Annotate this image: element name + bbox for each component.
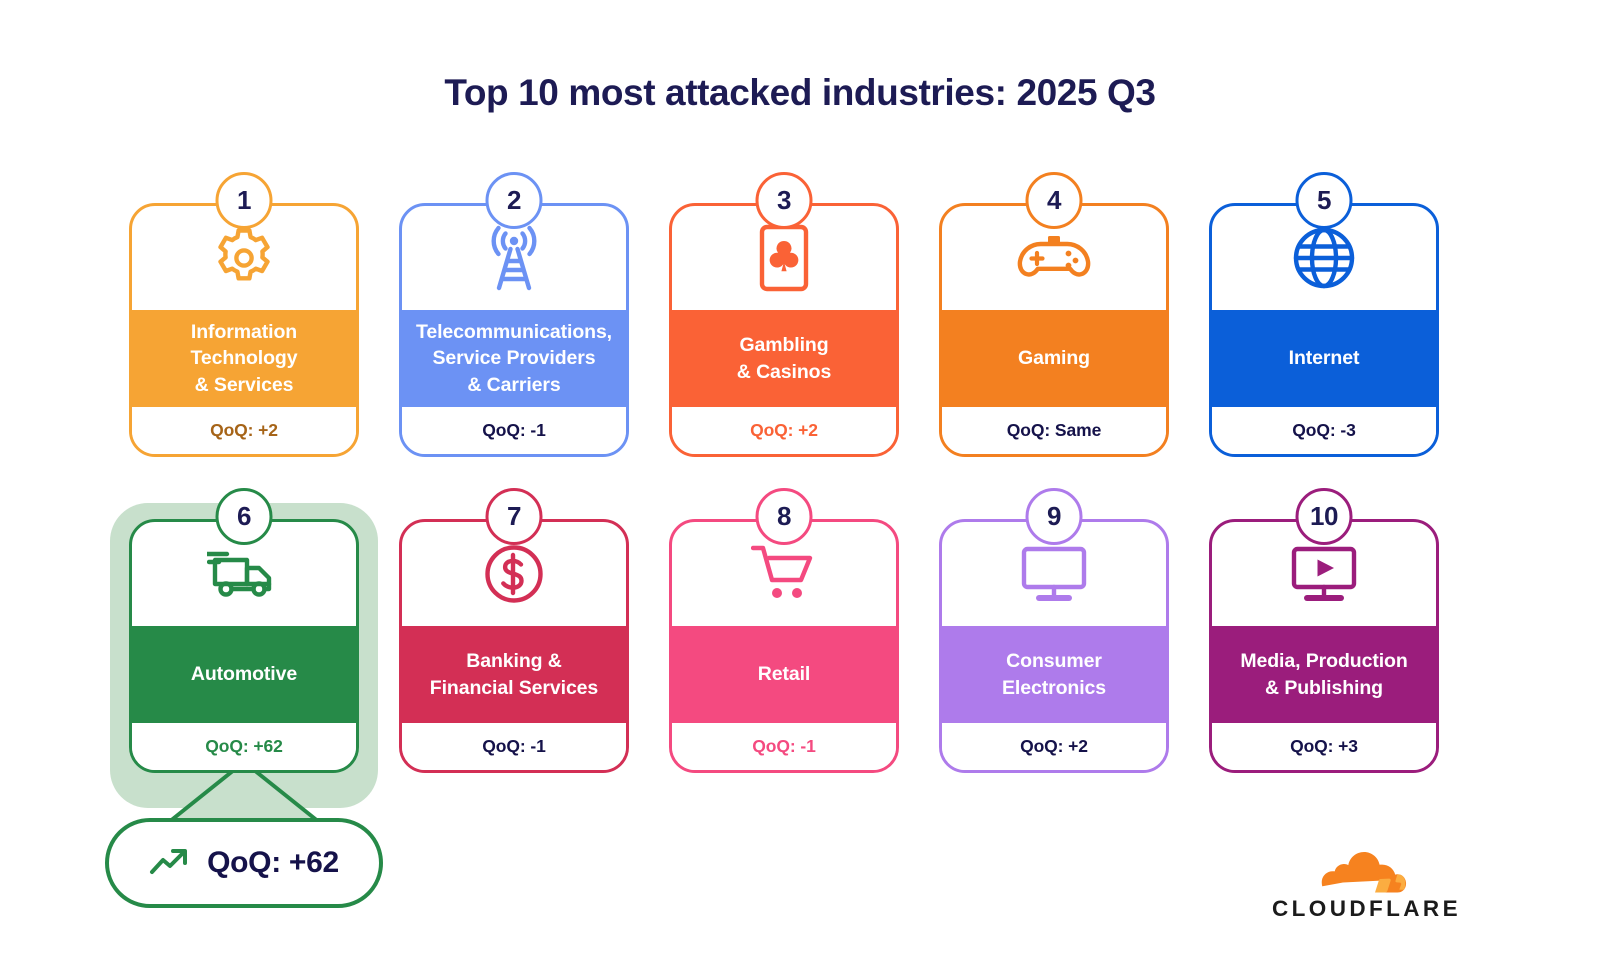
rank-badge-8: 8 [756,488,813,545]
qoq-footer: QoQ: +2 [942,723,1166,770]
qoq-footer: QoQ: -3 [1212,407,1436,454]
rank-number: 1 [237,185,251,216]
industry-name-band: InformationTechnology& Services [132,310,356,407]
industry-card-8[interactable]: RetailQoQ: -1 [669,519,899,773]
industry-name-band: Media, Production& Publishing [1212,626,1436,723]
industry-name-band: Retail [672,626,896,723]
rank-badge-3: 3 [756,172,813,229]
qoq-footer: QoQ: Same [942,407,1166,454]
qoq-value: QoQ: Same [1007,420,1101,441]
card-slot-1: InformationTechnology& ServicesQoQ: +21 [129,203,359,457]
industry-name-band: Banking &Financial Services [402,626,626,723]
qoq-footer: QoQ: +3 [1212,723,1436,770]
rank-badge-10: 10 [1296,488,1353,545]
card-slot-3: Gambling& CasinosQoQ: +23 [669,203,899,457]
industry-card-10[interactable]: Media, Production& PublishingQoQ: +3 [1209,519,1439,773]
qoq-footer: QoQ: -1 [402,723,626,770]
card-slot-4: GamingQoQ: Same4 [939,203,1169,457]
industry-name-label: Automotive [191,661,297,687]
industry-card-5[interactable]: InternetQoQ: -3 [1209,203,1439,457]
industry-card-9[interactable]: ConsumerElectronicsQoQ: +2 [939,519,1169,773]
industry-name-band: Gambling& Casinos [672,310,896,407]
trending-up-icon [149,846,191,881]
rank-number: 7 [507,501,521,532]
page-title: Top 10 most attacked industries: 2025 Q3 [0,72,1600,114]
industry-name-label: ConsumerElectronics [1002,648,1106,701]
card-row-2: AutomotiveQoQ: +626Banking &Financial Se… [129,519,1473,773]
qoq-footer: QoQ: -1 [402,407,626,454]
qoq-value: QoQ: +62 [205,736,283,757]
rank-badge-4: 4 [1026,172,1083,229]
rank-number: 10 [1310,501,1338,532]
rank-number: 3 [777,185,791,216]
industry-card-grid: InformationTechnology& ServicesQoQ: +21T… [129,203,1473,773]
qoq-value: QoQ: -1 [482,736,545,757]
card-slot-8: RetailQoQ: -18 [669,519,899,773]
cloudflare-logo: CLOUDFLARE [1272,852,1448,921]
rank-badge-1: 1 [216,172,273,229]
qoq-footer: QoQ: -1 [672,723,896,770]
cloudflare-cloud-icon [1272,852,1448,894]
industry-name-label: Media, Production& Publishing [1240,648,1407,701]
qoq-value: QoQ: +2 [1020,736,1088,757]
industry-name-band: Gaming [942,310,1166,407]
industry-name-band: Telecommunications,Service Providers& Ca… [402,310,626,407]
industry-card-4[interactable]: GamingQoQ: Same [939,203,1169,457]
qoq-footer: QoQ: +2 [132,407,356,454]
card-slot-9: ConsumerElectronicsQoQ: +29 [939,519,1169,773]
qoq-footer: QoQ: +62 [132,723,356,770]
rank-number: 6 [237,501,251,532]
callout-label: QoQ: +62 [207,846,339,880]
qoq-value: QoQ: -3 [1292,420,1355,441]
industry-name-label: Retail [758,661,811,687]
card-slot-10: Media, Production& PublishingQoQ: +310 [1209,519,1439,773]
industry-card-1[interactable]: InformationTechnology& ServicesQoQ: +2 [129,203,359,457]
industry-name-label: Gaming [1018,345,1090,371]
industry-card-7[interactable]: Banking &Financial ServicesQoQ: -1 [399,519,629,773]
rank-badge-2: 2 [486,172,543,229]
industry-card-2[interactable]: Telecommunications,Service Providers& Ca… [399,203,629,457]
industry-name-band: Automotive [132,626,356,723]
rank-number: 8 [777,501,791,532]
qoq-value: QoQ: -1 [482,420,545,441]
qoq-footer: QoQ: +2 [672,407,896,454]
card-slot-6: AutomotiveQoQ: +626 [129,519,359,773]
rank-badge-9: 9 [1026,488,1083,545]
industry-card-6[interactable]: AutomotiveQoQ: +62 [129,519,359,773]
qoq-value: QoQ: -1 [752,736,815,757]
rank-number: 2 [507,185,521,216]
rank-badge-7: 7 [486,488,543,545]
industry-name-band: ConsumerElectronics [942,626,1166,723]
qoq-value: QoQ: +2 [750,420,818,441]
card-slot-5: InternetQoQ: -35 [1209,203,1439,457]
industry-name-label: InformationTechnology& Services [191,319,298,398]
qoq-value: QoQ: +3 [1290,736,1358,757]
card-row-1: InformationTechnology& ServicesQoQ: +21T… [129,203,1473,457]
card-slot-7: Banking &Financial ServicesQoQ: -17 [399,519,629,773]
rank-number: 4 [1047,185,1061,216]
rank-badge-5: 5 [1296,172,1353,229]
rank-number: 5 [1317,185,1331,216]
industry-name-band: Internet [1212,310,1436,407]
card-slot-2: Telecommunications,Service Providers& Ca… [399,203,629,457]
rank-number: 9 [1047,501,1061,532]
industry-name-label: Banking &Financial Services [430,648,598,701]
rank-badge-6: 6 [216,488,273,545]
industry-name-label: Gambling& Casinos [737,332,831,385]
qoq-callout[interactable]: QoQ: +62 [105,818,383,908]
cloudflare-wordmark: CLOUDFLARE [1272,898,1448,921]
qoq-value: QoQ: +2 [210,420,278,441]
industry-name-label: Telecommunications,Service Providers& Ca… [416,319,612,398]
industry-card-3[interactable]: Gambling& CasinosQoQ: +2 [669,203,899,457]
industry-name-label: Internet [1289,345,1360,371]
